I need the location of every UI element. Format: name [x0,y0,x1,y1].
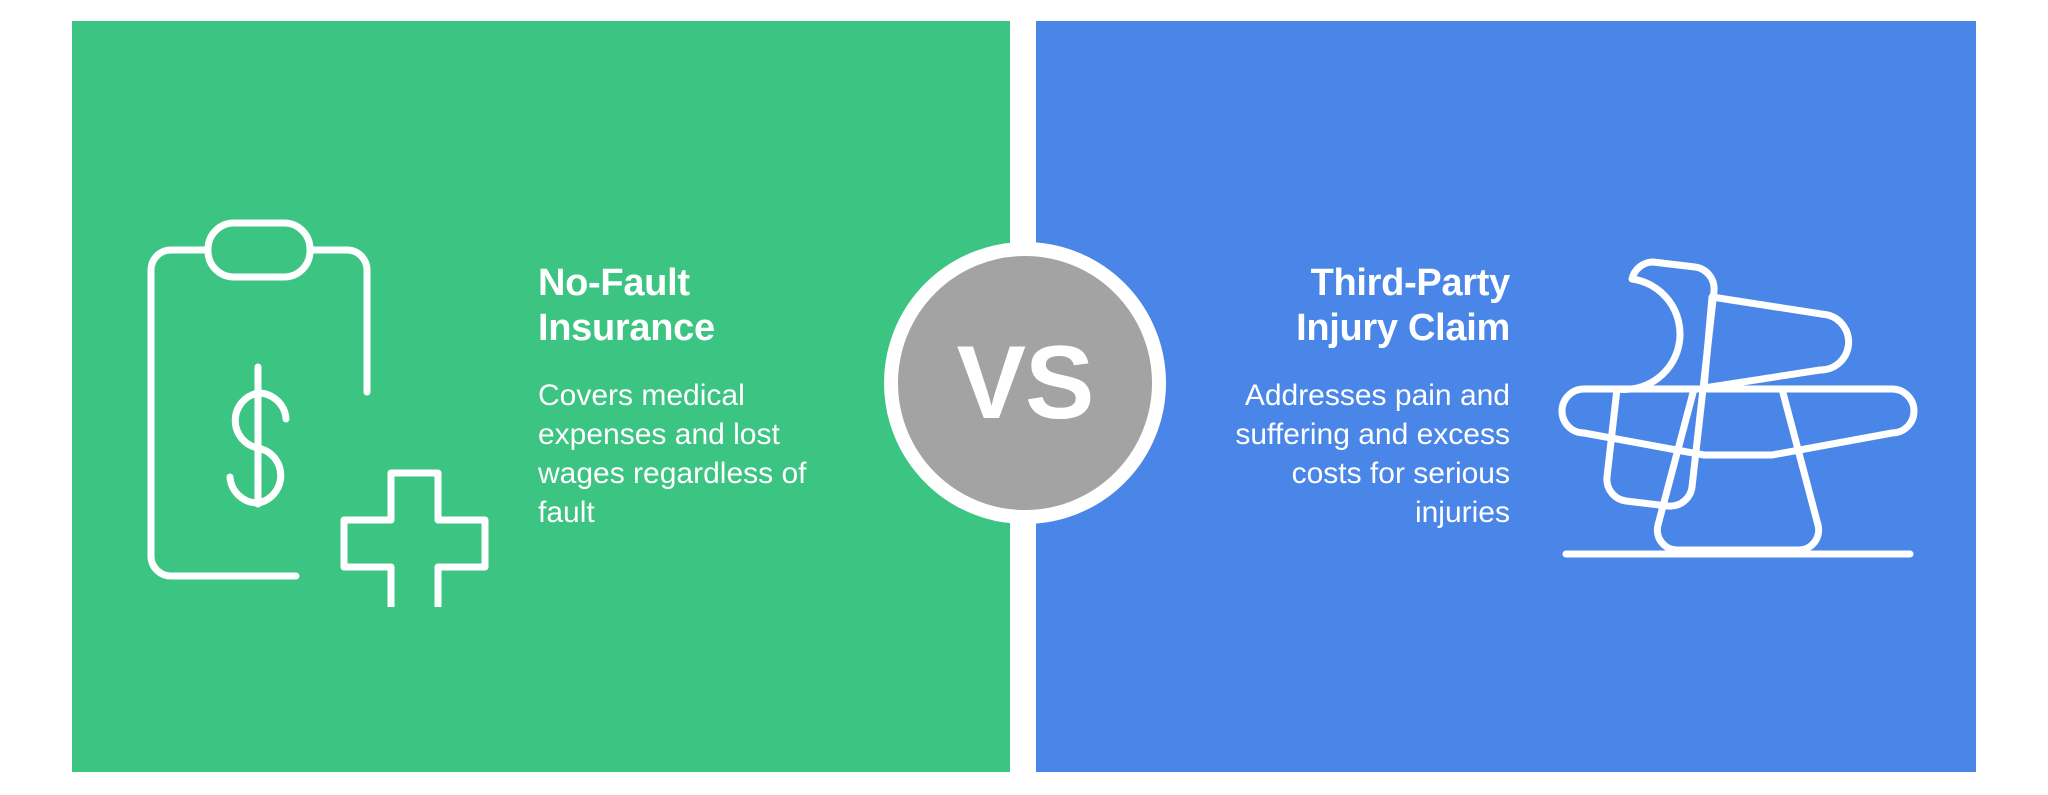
clipboard-dollar-medical-cross-icon [100,187,520,607]
comparison-card-right: Third-Party Injury Claim Addresses pain … [1036,21,1976,772]
comparison-card-left: No-Fault Insurance Covers medical expens… [72,21,1010,772]
card-title-right: Third-Party Injury Claim [1100,261,1510,350]
card-title-left: No-Fault Insurance [538,261,946,350]
vs-label: VS [957,331,1094,435]
comparison-infographic: No-Fault Insurance Covers medical expens… [0,0,2048,795]
gavel-anvil-icon [1528,187,1948,607]
vs-badge-icon: VS [884,242,1166,524]
